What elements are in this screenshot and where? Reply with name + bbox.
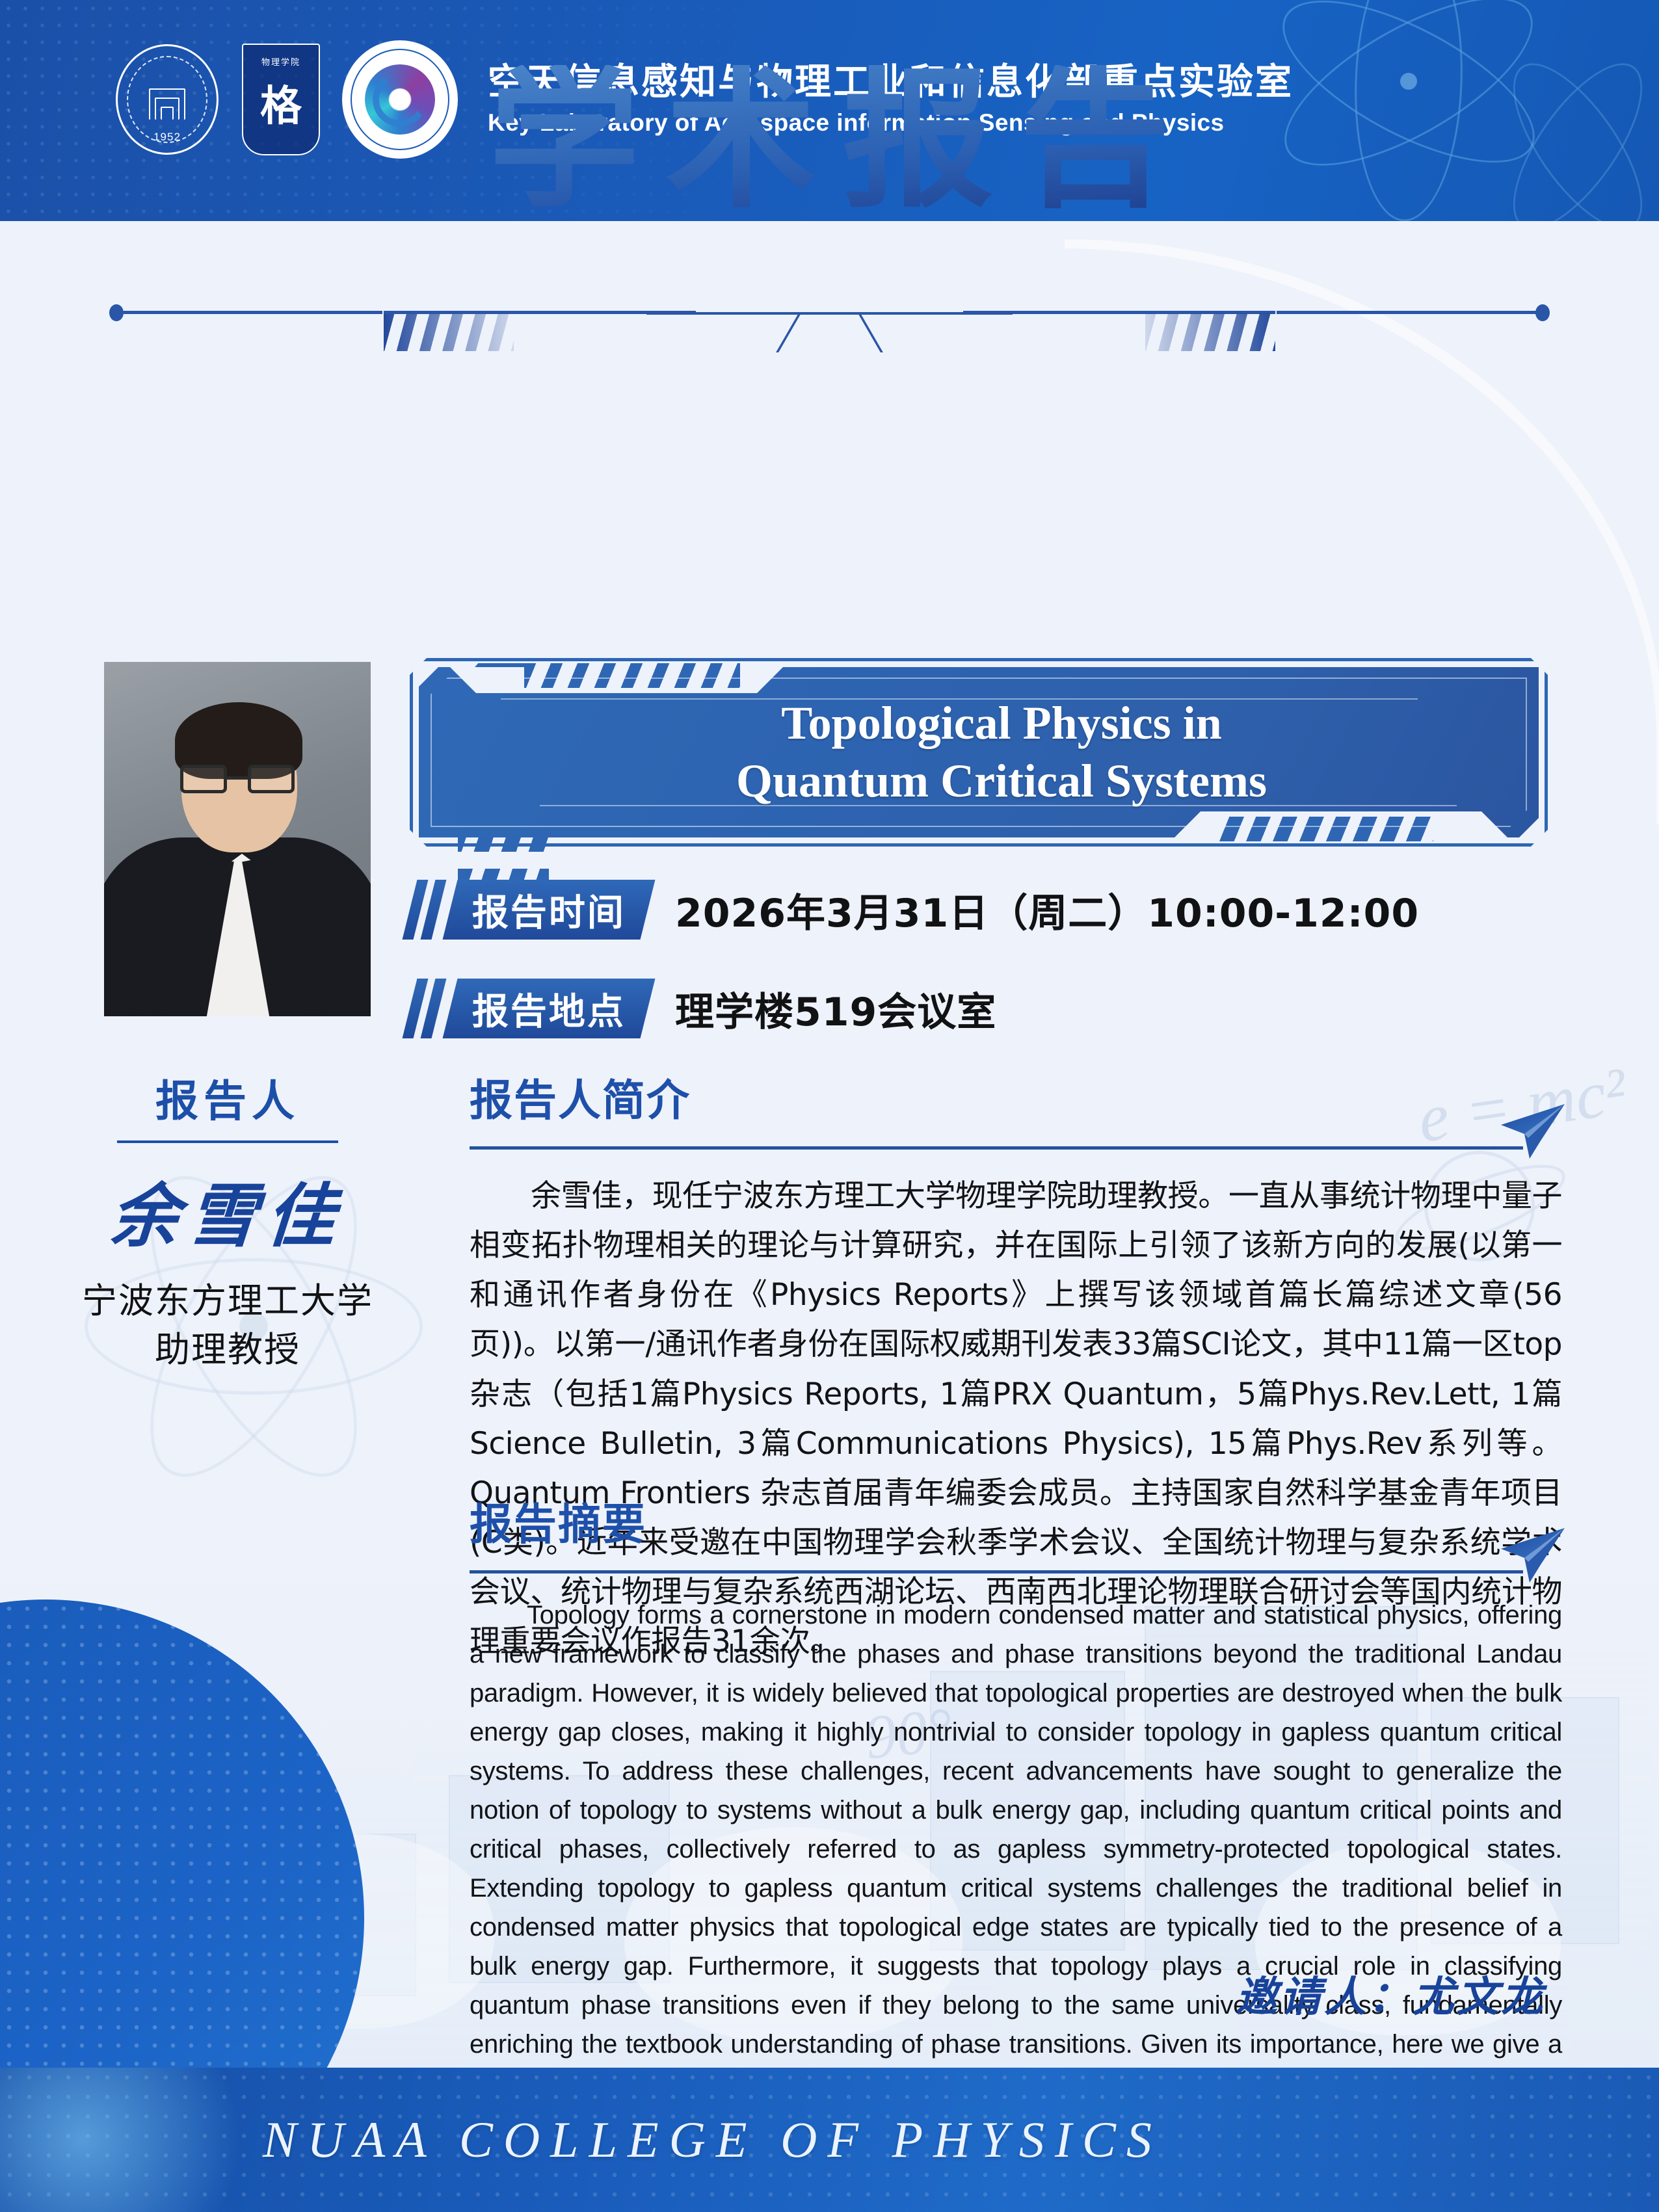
meta-row-place: 报告地点 理学楼519会议室 — [410, 970, 1580, 1047]
talk-title-banner: Topological Physics in Quantum Critical … — [410, 658, 1548, 847]
talk-title-line-2: Quantum Critical Systems — [736, 752, 1267, 810]
speaker-label: 报告人 — [59, 1066, 397, 1129]
speaker-affiliation-line-2: 助理教授 — [59, 1326, 397, 1375]
speaker-block: 报告人 余雪佳 宁波东方理工大学 助理教授 — [59, 1066, 397, 1374]
talk-title: Topological Physics in Quantum Critical … — [410, 658, 1548, 847]
poster-root: 1952 物理学院 格 空天信息感知与物理工业和信息化部重点实验室 Key La… — [0, 0, 1659, 2212]
slash-decoration-icon — [410, 880, 447, 940]
eyeglasses-icon — [180, 765, 295, 795]
hero-divider-decoration — [0, 286, 1659, 364]
speaker-affiliation-line-1: 宁波东方理工大学 — [59, 1277, 397, 1326]
paper-plane-icon — [1496, 1525, 1569, 1585]
section-bio-header: 报告人简介 — [470, 1079, 1562, 1157]
meta-row-time: 报告时间 2026年3月31日（周二）10:00-12:00 — [410, 871, 1580, 948]
paper-plane-icon — [1496, 1101, 1569, 1161]
meta-value-place: 理学楼519会议室 — [675, 981, 996, 1037]
bottom-left-arc-decoration — [0, 1600, 364, 2068]
section-abstract-title: 报告摘要 — [470, 1503, 1562, 1546]
meta-label-time: 报告时间 — [472, 884, 626, 936]
footer-glow — [0, 2068, 286, 2212]
slash-decoration-icon — [410, 979, 447, 1038]
speaker-affiliation: 宁波东方理工大学 助理教授 — [59, 1277, 397, 1374]
meta-label-place: 报告地点 — [472, 982, 626, 1035]
inviter-line: 邀请人：尤文龙 — [1236, 1964, 1545, 2023]
section-bio-title: 报告人简介 — [470, 1079, 1562, 1122]
meta-label-badge: 报告时间 — [443, 880, 656, 940]
speaker-photo — [104, 662, 371, 1016]
section-bio-rule — [470, 1146, 1523, 1150]
speaker-name: 余雪佳 — [55, 1160, 401, 1260]
meta-value-time: 2026年3月31日（周二）10:00-12:00 — [675, 882, 1419, 938]
poster-footer: NUAA COLLEGE OF PHYSICS — [0, 2068, 1659, 2212]
hero-title-block: 学术报告 — [0, 65, 1659, 216]
talk-title-line-1: Topological Physics in — [781, 694, 1222, 752]
section-abstract-rule — [470, 1570, 1523, 1573]
page-title: 学术报告 — [462, 65, 1196, 216]
footer-title: NUAA COLLEGE OF PHYSICS — [263, 2111, 1162, 2169]
meta-label-badge: 报告地点 — [443, 979, 656, 1038]
speaker-divider — [117, 1140, 338, 1143]
section-abstract-header: 报告摘要 — [470, 1503, 1562, 1581]
talk-meta-list: 报告时间 2026年3月31日（周二）10:00-12:00 报告地点 理学楼5… — [410, 871, 1580, 1069]
